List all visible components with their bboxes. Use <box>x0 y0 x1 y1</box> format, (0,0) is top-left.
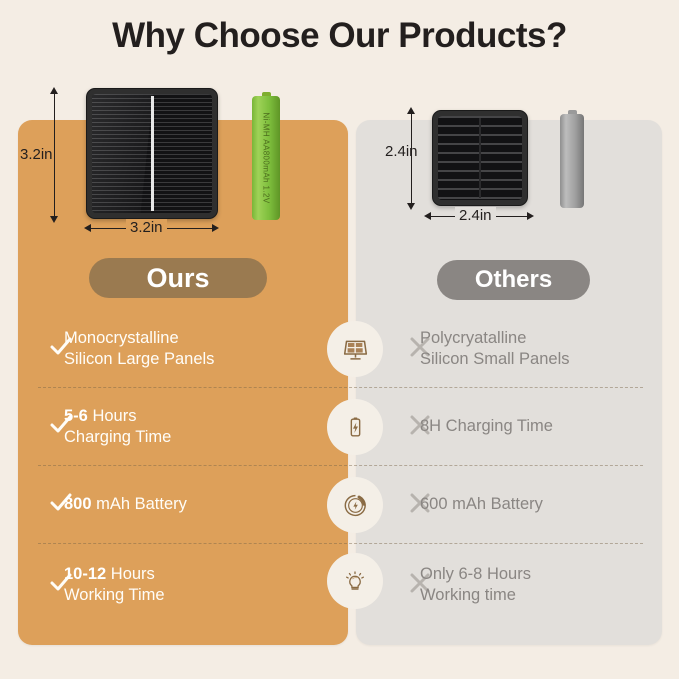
feature-row: 10-12 Hours Working Time <box>0 544 679 626</box>
ours-feature-4: 10-12 Hours Working Time <box>18 544 348 626</box>
ours-feature-3: 800 mAh Battery <box>18 466 348 544</box>
others-width-arrow-right <box>527 212 534 220</box>
ours-feature-3-bold: 800 <box>64 495 92 513</box>
ours-feature-4-bold: 10-12 <box>64 565 106 583</box>
others-height-arrow-down <box>407 203 415 210</box>
ours-battery-label: Ni-MH AA800mAh 1.2V <box>262 112 271 203</box>
ours-width-arrow-left <box>84 224 91 232</box>
ours-badge: Ours <box>89 258 267 298</box>
others-feature-4-line2: Working time <box>420 586 516 604</box>
ours-feature-3-line1: mAh Battery <box>92 495 187 513</box>
ours-solar-panel-image <box>86 88 218 219</box>
others-height-label: 2.4in <box>385 143 418 160</box>
others-badge: Others <box>437 260 590 300</box>
feature-row: Monocrystalline Silicon Large Panels <box>0 310 679 388</box>
ours-battery-image: Ni-MH AA800mAh 1.2V <box>252 92 280 220</box>
others-feature-2-line1: 8H Charging Time <box>420 417 553 435</box>
others-feature-1: Polycryatalline Silicon Small Panels <box>356 310 662 388</box>
others-battery-image <box>560 110 584 208</box>
ours-feature-1-line1: Monocrystalline <box>64 329 179 347</box>
ours-width-arrow-right <box>212 224 219 232</box>
others-feature-1-line2: Silicon Small Panels <box>420 350 569 368</box>
ours-feature-2-line1: Hours <box>88 407 137 425</box>
others-height-arrow-up <box>407 107 415 114</box>
ours-badge-label: Ours <box>146 263 209 294</box>
ours-height-label: 3.2in <box>20 146 53 163</box>
others-feature-3: 600 mAh Battery <box>356 466 662 544</box>
feature-rows: Monocrystalline Silicon Large Panels <box>0 310 679 626</box>
ours-height-dim-line <box>54 92 55 219</box>
ours-feature-4-line1: Hours <box>106 565 155 583</box>
ours-feature-2-bold: 5-6 <box>64 407 88 425</box>
others-width-arrow-left <box>424 212 431 220</box>
ours-feature-2: 5-6 Hours Charging Time <box>18 388 348 466</box>
comparison-infographic: Why Choose Our Products? 3.2in 3.2in Ni-… <box>0 0 679 679</box>
ours-height-arrow-down <box>50 216 58 223</box>
others-feature-2: 8H Charging Time <box>356 388 662 466</box>
ours-feature-4-line2: Working Time <box>64 586 165 604</box>
others-feature-3-line1: 600 mAh Battery <box>420 495 543 513</box>
others-badge-label: Others <box>475 266 552 294</box>
others-feature-1-line1: Polycryatalline <box>420 329 526 347</box>
others-solar-panel-image <box>432 110 528 206</box>
ours-feature-2-line2: Charging Time <box>64 428 171 446</box>
ours-width-label: 3.2in <box>126 219 167 236</box>
ours-height-arrow-up <box>50 87 58 94</box>
feature-row: 800 mAh Battery 600 mAh Battery <box>0 466 679 544</box>
others-feature-4: Only 6-8 Hours Working time <box>356 544 662 626</box>
feature-row: 5-6 Hours Charging Time 8H Charging Time <box>0 388 679 466</box>
others-width-label: 2.4in <box>455 207 496 224</box>
ours-feature-1: Monocrystalline Silicon Large Panels <box>18 310 348 388</box>
others-feature-4-line1: Only 6-8 Hours <box>420 565 531 583</box>
ours-feature-1-line2: Silicon Large Panels <box>64 350 214 368</box>
product-hero-area: 3.2in 3.2in Ni-MH AA800mAh 1.2V 2.4in <box>0 0 679 250</box>
